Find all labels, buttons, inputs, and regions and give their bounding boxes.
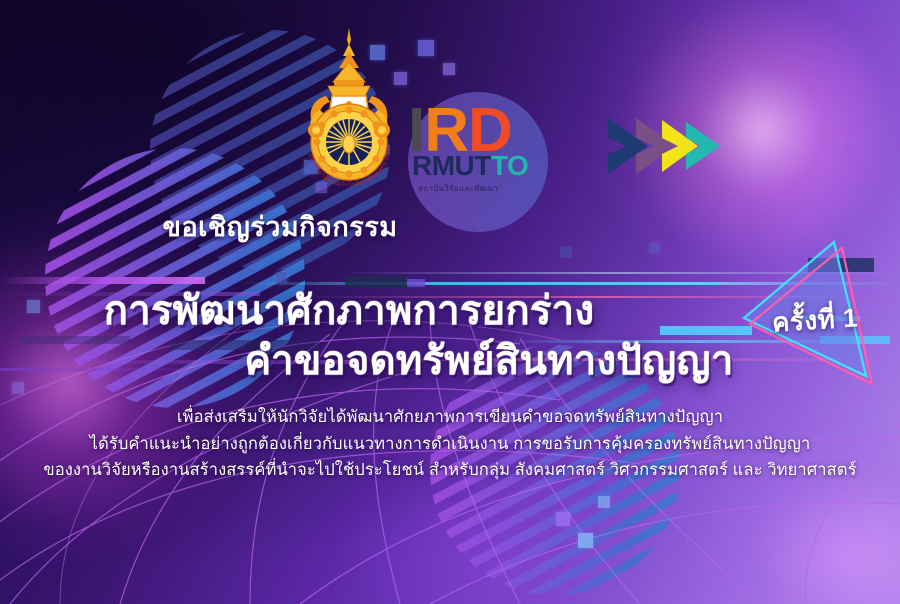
rmutto-prefix: RMUT [412,150,491,181]
logo-tagline: สถาบันวิจัยและพัฒนา [418,182,498,195]
body-copy: เพื่อส่งเสริมให้นักวิจัยได้พัฒนาศักยภาพก… [0,404,900,484]
sphere-stripe [430,473,680,595]
glitch-bar [0,277,205,284]
body-line-1: เพื่อส่งเสริมให้นักวิจัยได้พัฒนาศักยภาพก… [0,404,900,431]
ird-wordmark: IRD RMUTTO สถาบันวิจัยและพัฒนา [408,104,608,196]
rmutto-suffix: TO [491,150,528,181]
sphere-stripe [150,261,390,270]
glitch-bar [340,272,900,274]
glitch-bar [808,258,874,272]
body-line-2: ได้รับคำแนะนำอย่างถูกต้องเกี่ยวกับแนวทาง… [0,431,900,458]
chevron-arrows-icon [608,110,728,182]
rmutto-wordmark: RMUTTO [412,152,528,180]
glitch-square [556,512,570,526]
sphere-stripe [430,557,680,595]
poster-canvas: มหาวิทยาลัยเทคโนโลยีราชมงคลตะวันออก IRD … [0,0,900,604]
headline-line-2: คำขอจดทรัพย์สินทางปัญญา [0,336,848,386]
glitch-bar [240,282,900,285]
sphere-stripe [430,515,680,595]
rmutto-emblem-icon: มหาวิทยาลัยเทคโนโลยีราชมงคลตะวันออก [290,26,408,186]
sphere-stripe [45,148,305,204]
headline-line-1: การพัฒนาศักภาพการยกร่าง [0,286,848,336]
sphere-stripe [430,578,680,595]
glitch-square [578,533,593,548]
glitch-square [598,496,610,508]
sphere-stripe [430,494,680,595]
logo-lockup: มหาวิทยาลัยเทคโนโลยีราชมงคลตะวันออก IRD … [290,26,610,196]
sphere-stripe [45,148,305,182]
sphere-stripe [45,148,305,160]
sphere-stripe [430,536,680,595]
kicker-text: ขอเชิญร่วมกิจกรรม [0,205,900,248]
body-line-3: ของงานวิจัยหรืองานสร้างสรรค์ที่นำจะไปใช้… [0,457,900,484]
glitch-square [276,272,287,283]
